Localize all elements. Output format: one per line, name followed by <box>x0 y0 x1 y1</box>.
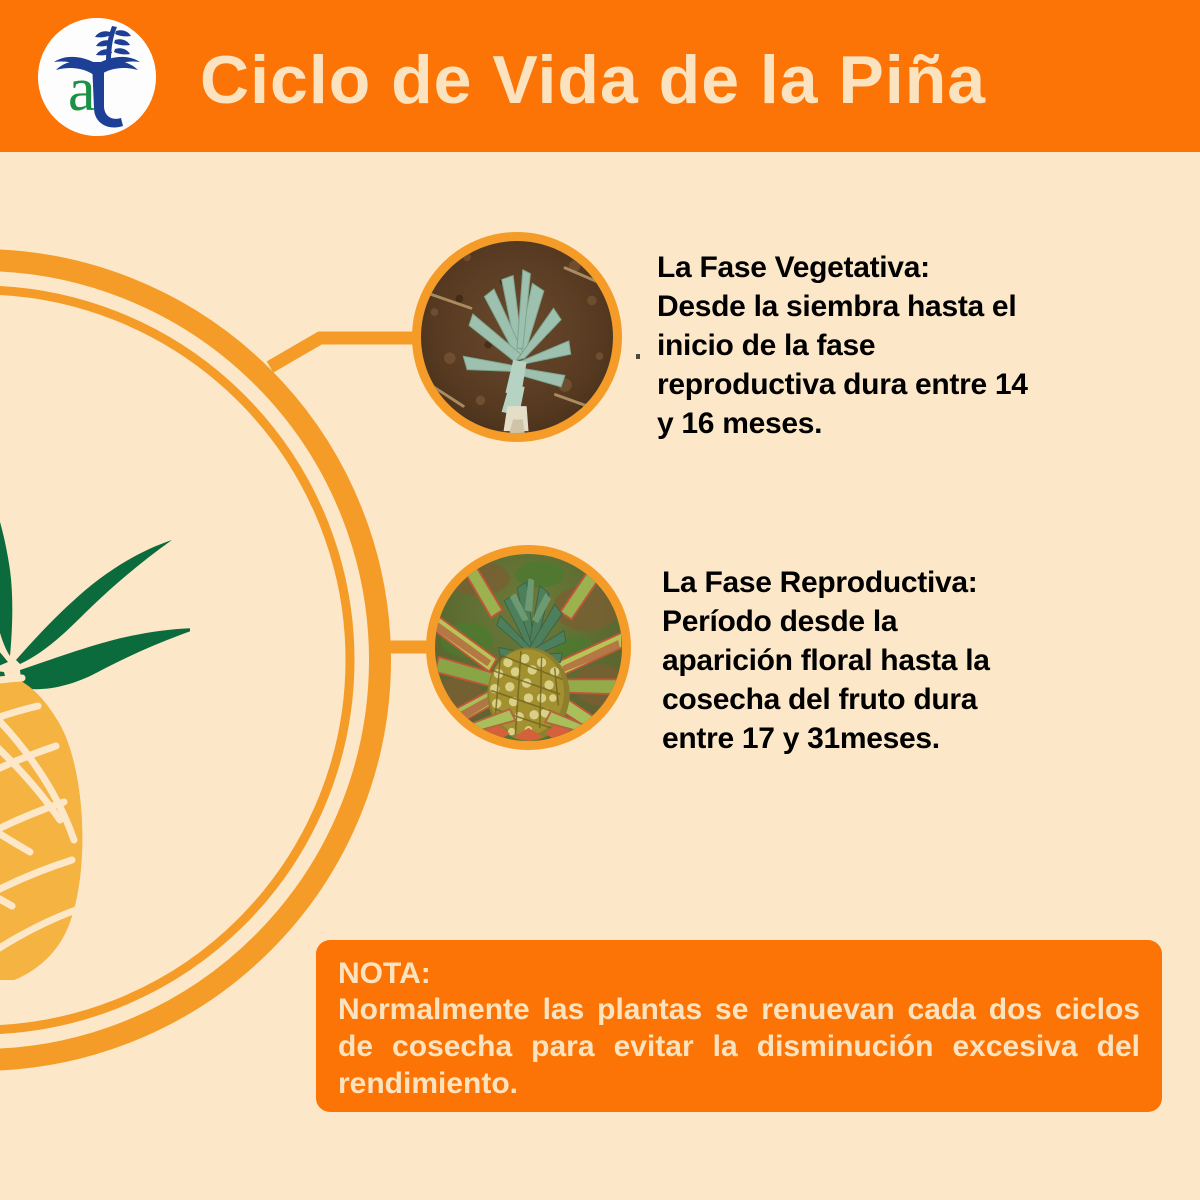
young-pineapple-plant-image <box>421 241 613 433</box>
note-box: NOTA: Normalmente las plantas se renueva… <box>316 940 1162 1112</box>
logo-mark: a <box>38 18 156 136</box>
pineapple-body <box>0 676 82 980</box>
step-1-line-1: La Fase Vegetativa: <box>657 248 1187 287</box>
step-1-line-3: inicio de la fase <box>657 326 1187 365</box>
infographic-page: a Ciclo de Vida de la Piña <box>0 0 1200 1200</box>
step-2-line-1: La Fase Reproductiva: <box>662 563 1172 602</box>
mature-pineapple-fruit-photo <box>426 545 631 750</box>
scan-artifact-speck <box>636 354 640 359</box>
mature-pineapple-fruit-image <box>435 554 622 741</box>
pineapple-leaves <box>0 464 190 700</box>
step-2-line-2: Período desde la <box>662 602 1172 641</box>
step-2-line-3: aparición floral hasta la <box>662 641 1172 680</box>
step-2-description: La Fase Reproductiva: Período desde la a… <box>662 563 1172 758</box>
logo-letter: a <box>68 56 96 124</box>
step-2-line-5: entre 17 y 31meses. <box>662 719 1172 758</box>
step-2-line-4: cosecha del fruto dura <box>662 680 1172 719</box>
pineapple-illustration <box>0 420 190 980</box>
step-1-description: La Fase Vegetativa: Desde la siembra has… <box>657 248 1187 443</box>
note-body: Normalmente las plantas se renuevan cada… <box>338 991 1140 1139</box>
page-title: Ciclo de Vida de la Piña <box>200 34 1160 126</box>
step-1-line-2: Desde la siembra hasta el <box>657 287 1187 326</box>
agro-leaf-logo: a <box>38 18 156 136</box>
step-1-line-4: reproductiva dura entre 14 <box>657 365 1187 404</box>
step-1-line-5: y 16 meses. <box>657 404 1187 443</box>
note-label: NOTA: <box>338 956 1140 991</box>
header-bar: a Ciclo de Vida de la Piña <box>0 0 1200 152</box>
young-pineapple-plant-photo <box>412 232 622 442</box>
connector-line-step-1 <box>270 338 420 367</box>
